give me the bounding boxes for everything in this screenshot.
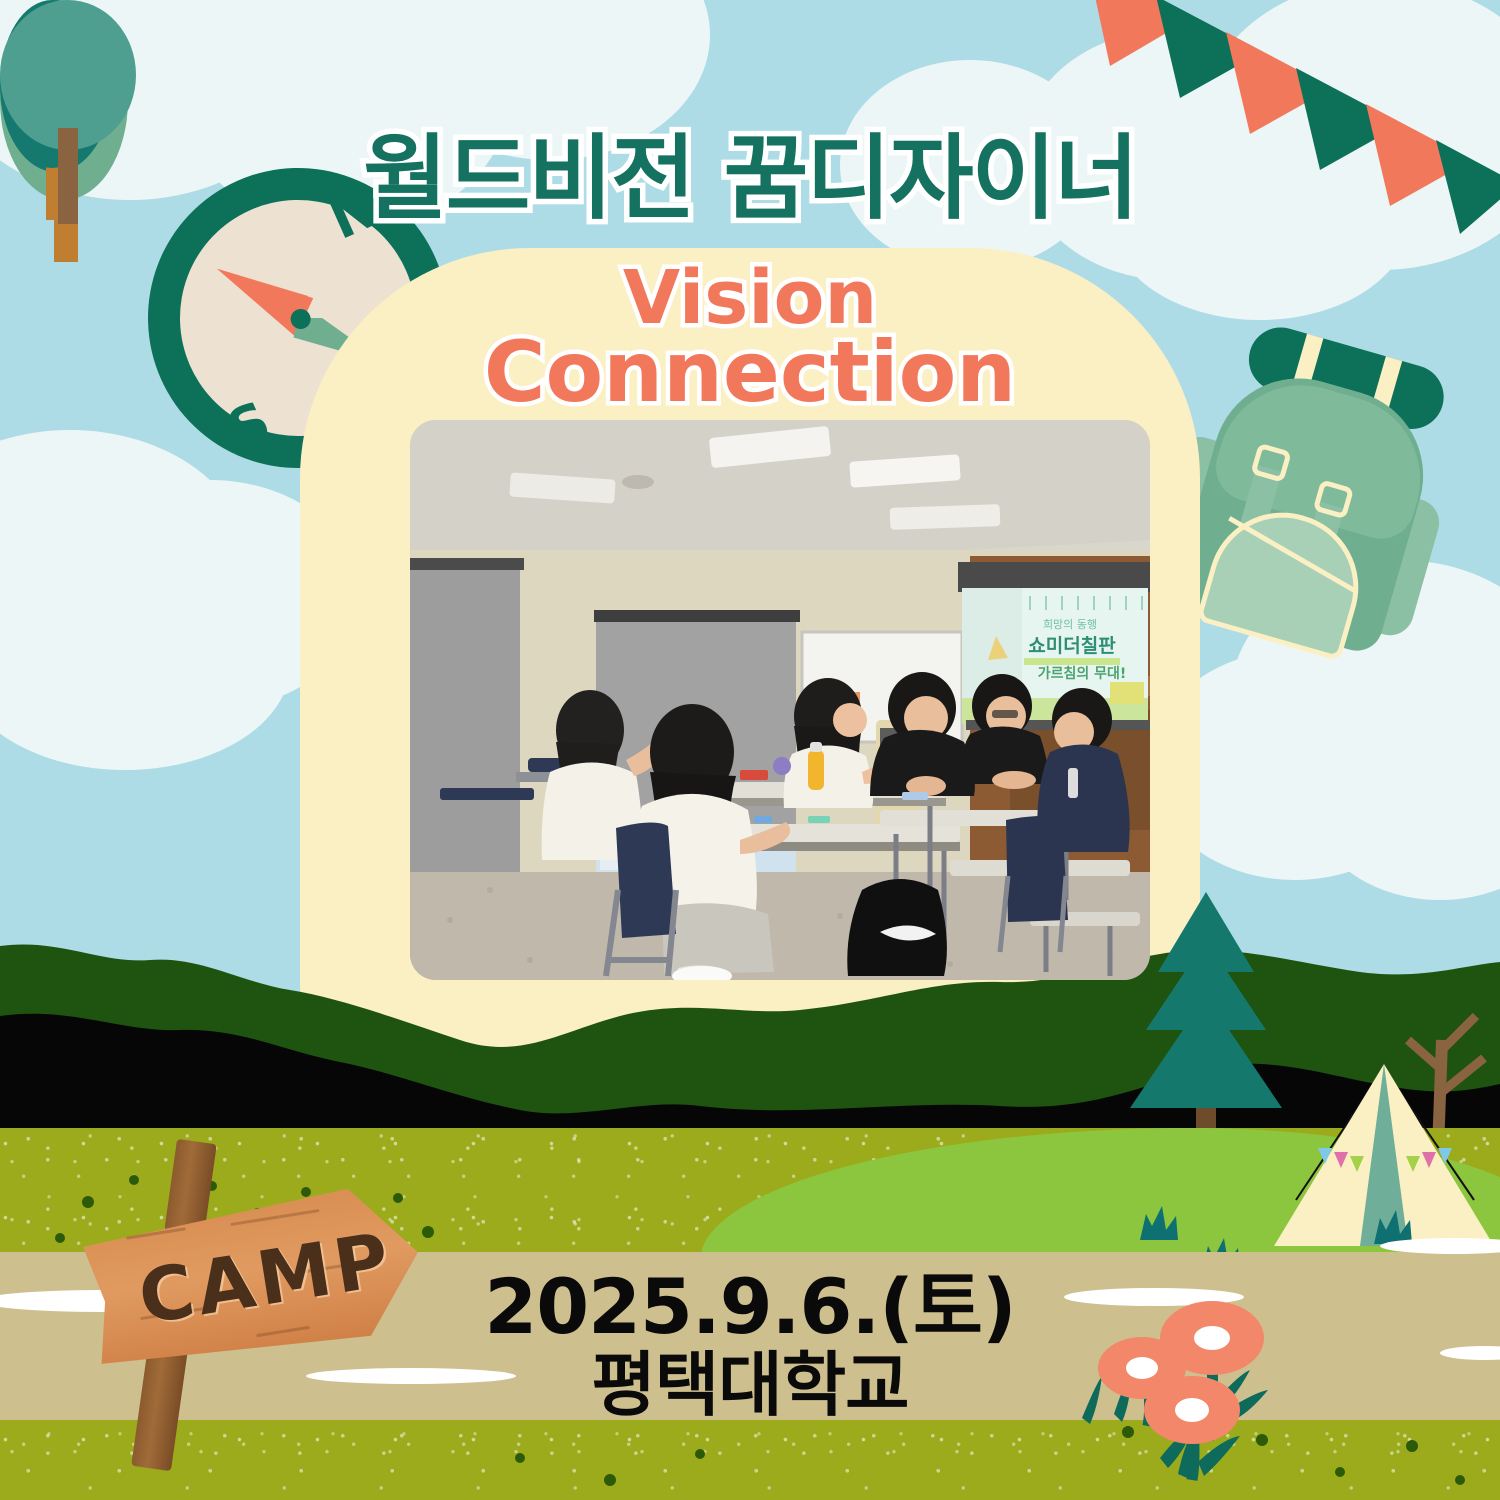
event-photo-illustration: 희망의 동행 쇼미더칠판 가르침의 무대! bbox=[410, 420, 1150, 980]
svg-text:쇼미더칠판: 쇼미더칠판 bbox=[1028, 635, 1116, 657]
svg-text:가르침의 무대!: 가르침의 무대! bbox=[1038, 665, 1127, 682]
event-venue: 평택대학교 bbox=[380, 1346, 1120, 1426]
program-title-line2: Connection bbox=[380, 333, 1120, 411]
event-photo: 희망의 동행 쇼미더칠판 가르침의 무대! bbox=[410, 420, 1150, 980]
program-title: Vision Connection bbox=[380, 264, 1120, 411]
svg-text:희망의 동행: 희망의 동행 bbox=[1043, 618, 1097, 631]
event-date: 2025.9.6.(토) bbox=[380, 1268, 1120, 1346]
poster-canvas: N S 월드비전 꿈디자이너 Vision Connection bbox=[0, 0, 1500, 1500]
event-details: 2025.9.6.(토) 평택대학교 bbox=[380, 1268, 1120, 1425]
page-title: 월드비전 꿈디자이너 bbox=[0, 104, 1500, 237]
